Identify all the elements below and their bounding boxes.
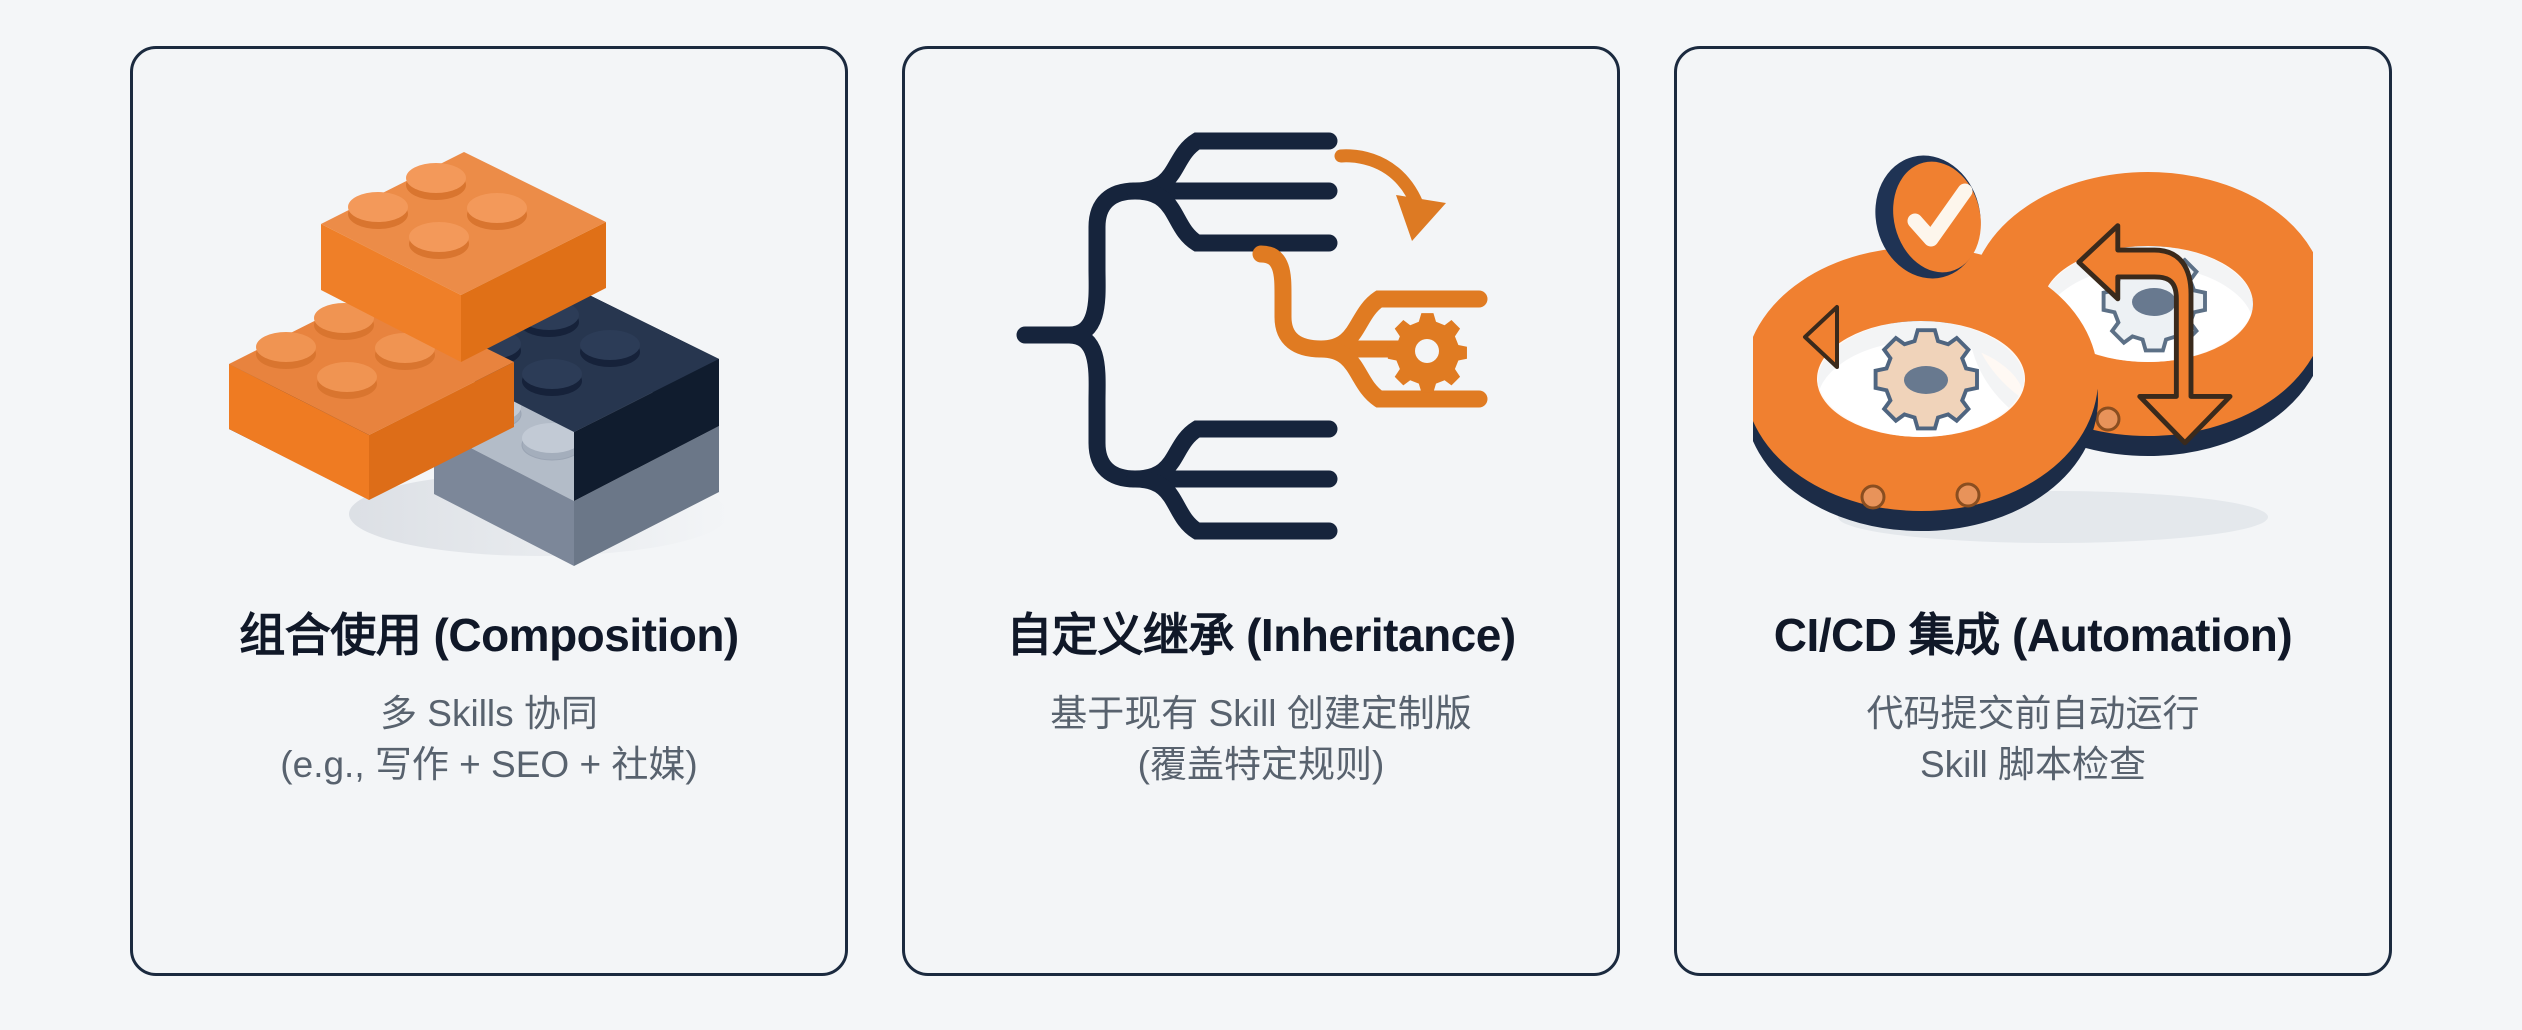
card-description: 多 Skills 协同 (e.g., 写作 + SEO + 社媒) [256, 688, 721, 790]
lego-bricks-icon [209, 74, 769, 594]
card-inheritance[interactable]: 自定义继承 (Inheritance) 基于现有 Skill 创建定制版 (覆盖… [902, 46, 1620, 976]
inheritance-tree-icon [1011, 99, 1511, 569]
card-description-line-1: 代码提交前自动运行 [1867, 688, 2200, 739]
illustration-automation [1677, 49, 2389, 609]
card-title: CI/CD 集成 (Automation) [1754, 609, 2312, 662]
illustration-inheritance [905, 49, 1617, 609]
page-root: 组合使用 (Composition) 多 Skills 协同 (e.g., 写作… [0, 0, 2522, 1030]
card-description-line-1: 基于现有 Skill 创建定制版 [1050, 688, 1471, 739]
card-description-line-2: (e.g., 写作 + SEO + 社媒) [280, 739, 697, 790]
feature-cards-row: 组合使用 (Composition) 多 Skills 协同 (e.g., 写作… [130, 46, 2392, 976]
card-automation[interactable]: CI/CD 集成 (Automation) 代码提交前自动运行 Skill 脚本… [1674, 46, 2392, 976]
gear-icon [1388, 313, 1467, 392]
card-description: 基于现有 Skill 创建定制版 (覆盖特定规则) [1026, 688, 1495, 790]
card-title: 自定义继承 (Inheritance) [986, 609, 1535, 662]
card-description-line-2: (覆盖特定规则) [1050, 739, 1471, 790]
gear-icon-left [1876, 330, 1977, 428]
cicd-infinity-loop-icon [1753, 99, 2313, 569]
card-title: 组合使用 (Composition) [219, 609, 759, 662]
card-description-line-1: 多 Skills 协同 [280, 688, 697, 739]
card-composition[interactable]: 组合使用 (Composition) 多 Skills 协同 (e.g., 写作… [130, 46, 848, 976]
card-description-line-2: Skill 脚本检查 [1867, 739, 2200, 790]
card-description: 代码提交前自动运行 Skill 脚本检查 [1843, 688, 2224, 790]
illustration-composition [133, 49, 845, 609]
